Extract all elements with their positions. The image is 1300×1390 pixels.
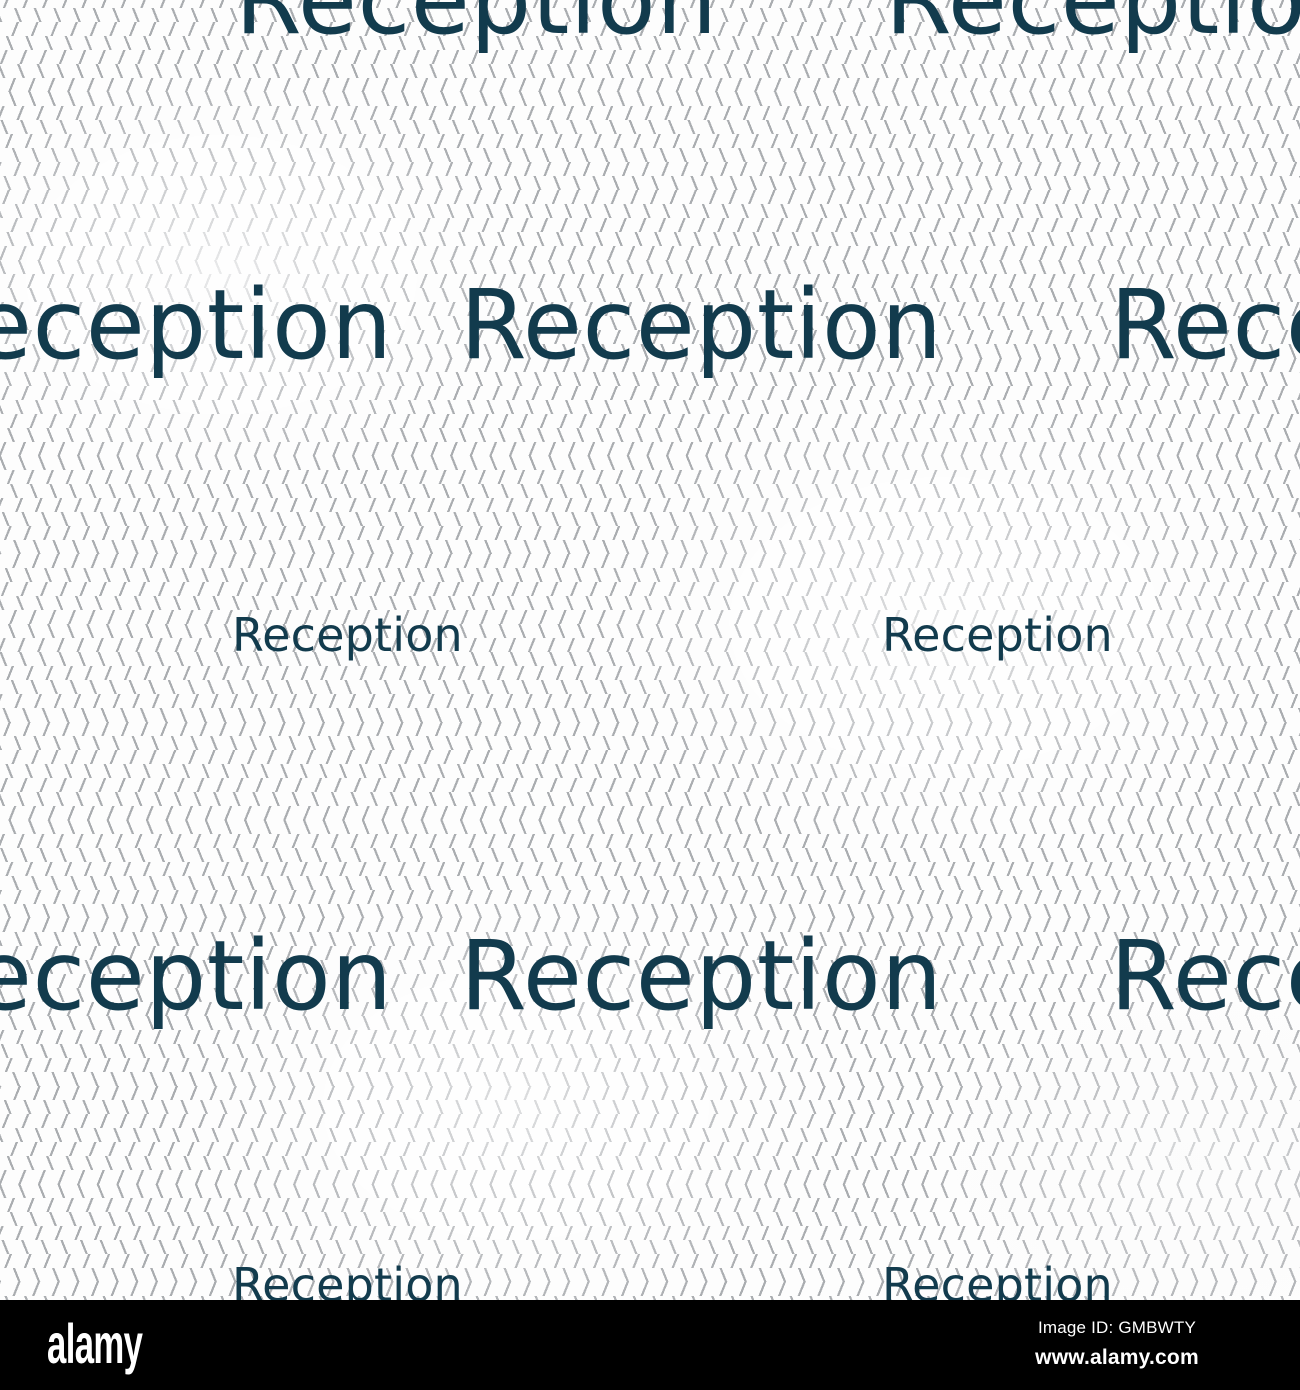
reception-word-tile: Reception (1110, 277, 1300, 373)
alamy-url-label: www.alamy.com (952, 1343, 1282, 1373)
reception-word-tile: Reception (1110, 928, 1300, 1024)
reception-word-tile: Reception (460, 928, 943, 1024)
reception-word-tile: Reception (885, 0, 1300, 48)
reception-word-tile: Reception (232, 1262, 463, 1300)
reception-word-tile: Reception (460, 277, 943, 373)
reception-word-tile: Reception (882, 1262, 1113, 1300)
alamy-logo: alamy (47, 1316, 142, 1372)
alamy-watermark-bar: alamy Image ID: GMBWTY www.alamy.com (0, 1300, 1300, 1390)
pattern-artwork: ReceptionReceptionReceptionReceptionRece… (0, 0, 1300, 1300)
image-id-label: Image ID: GMBWTY (952, 1317, 1282, 1339)
reception-word-tile: Reception (232, 612, 463, 658)
reception-word-tile: Reception (0, 928, 393, 1024)
reception-word-tile: Reception (0, 277, 393, 373)
screenshot-root: ReceptionReceptionReceptionReceptionRece… (0, 0, 1300, 1390)
footer-credit-block: Image ID: GMBWTY www.alamy.com (952, 1317, 1282, 1373)
reception-word-tile: Reception (235, 0, 718, 48)
reception-word-tile: Reception (882, 612, 1113, 658)
